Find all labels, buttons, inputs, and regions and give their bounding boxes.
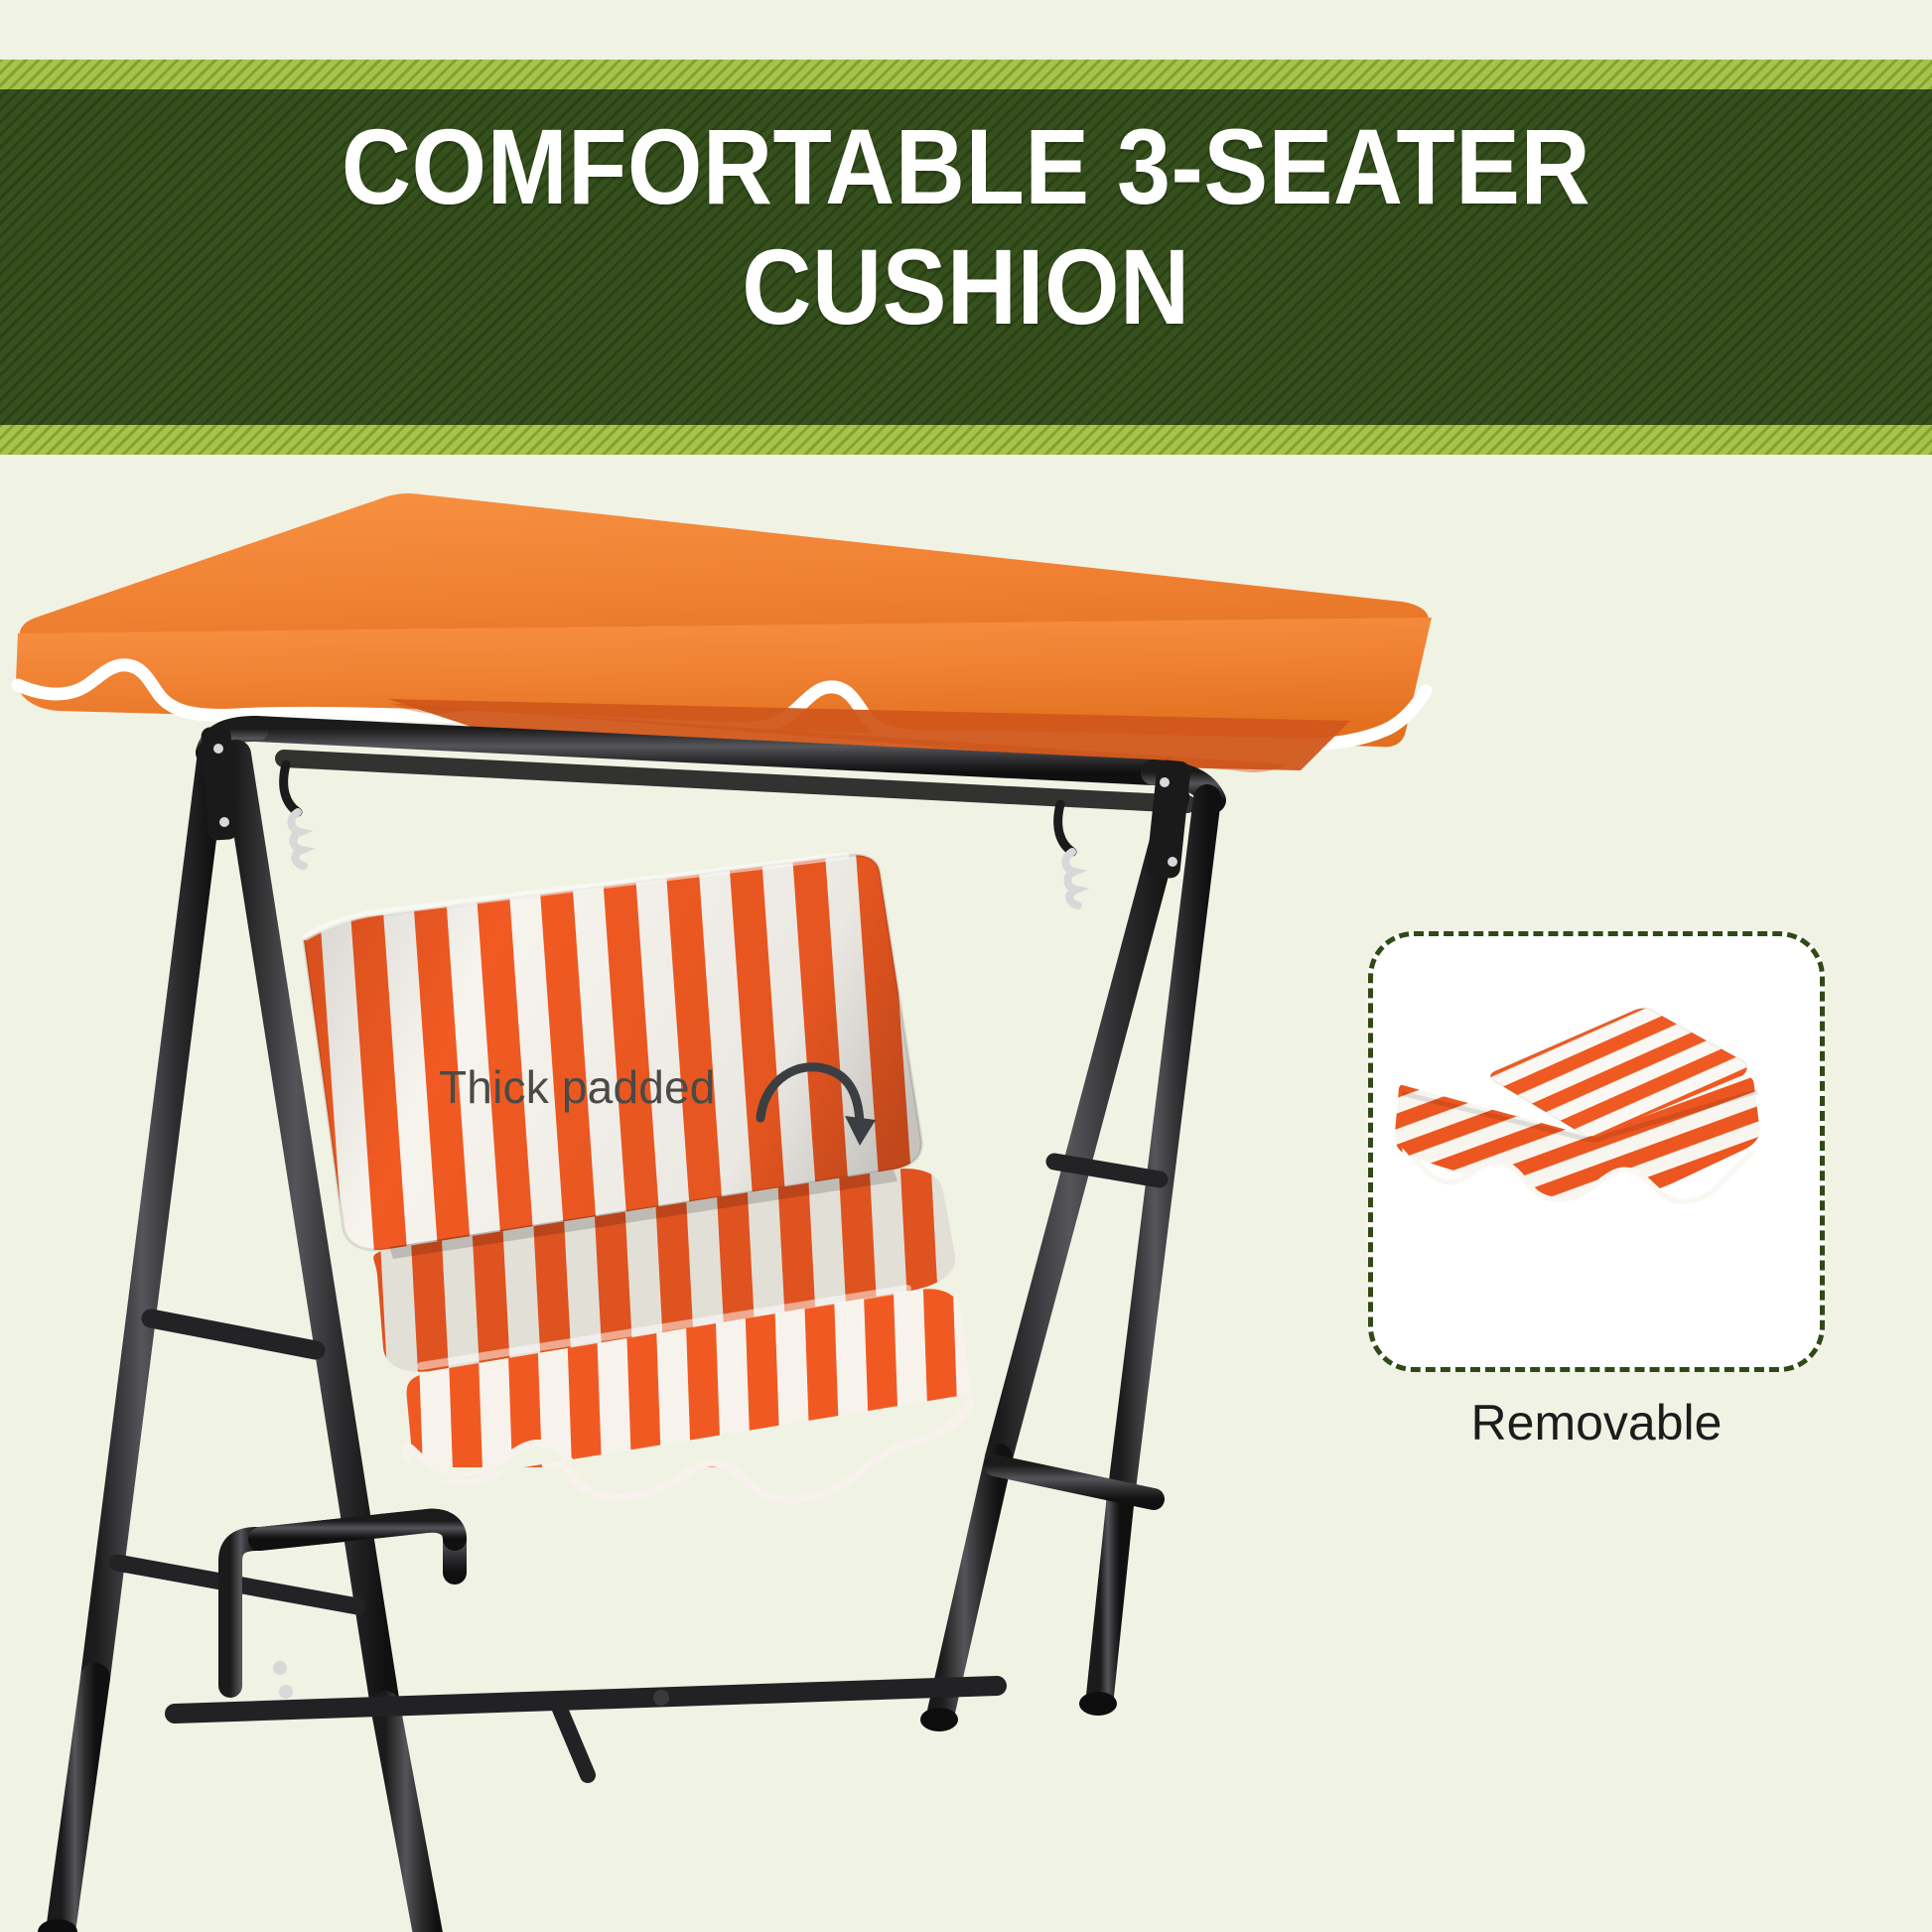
spring-hook-left <box>284 764 304 866</box>
removable-inset-panel <box>1368 931 1825 1372</box>
removable-label: Removable <box>1368 1394 1825 1451</box>
banner-accent-stripe-top <box>0 60 1932 89</box>
header-banner: COMFORTABLE 3-SEATER CUSHION <box>0 60 1932 455</box>
banner-accent-stripe-bottom <box>0 425 1932 455</box>
product-banner-canvas: COMFORTABLE 3-SEATER CUSHION <box>0 0 1932 1932</box>
curved-arrow-down-right-icon <box>751 1046 890 1166</box>
spring-hook-right <box>1058 804 1078 905</box>
callout-thick-padded-label: Thick padded <box>439 1060 716 1114</box>
page-title: COMFORTABLE 3-SEATER CUSHION <box>96 107 1835 347</box>
